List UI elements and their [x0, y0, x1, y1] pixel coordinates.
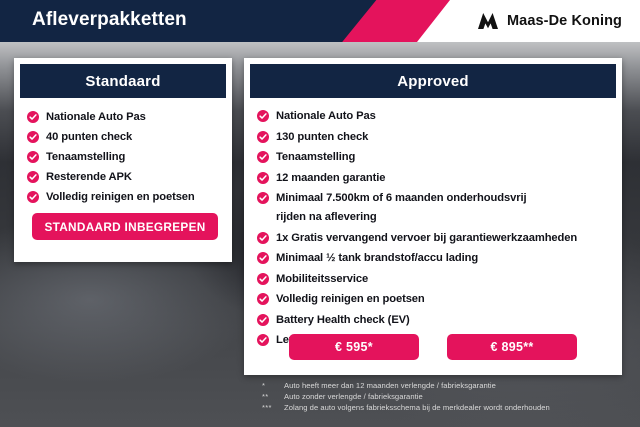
check-circle-icon [257, 110, 269, 122]
footnote-text: Auto heeft meer dan 12 maanden verlengde… [284, 381, 496, 390]
list-item: 130 punten check [257, 130, 612, 144]
list-item: 1x Gratis vervangend vervoer bij garanti… [257, 231, 612, 245]
check-circle-icon [257, 314, 269, 326]
check-circle-icon [27, 111, 39, 123]
check-circle-icon [257, 192, 269, 204]
check-circle-icon [257, 172, 269, 184]
feature-label: 1x Gratis vervangend vervoer bij garanti… [276, 231, 577, 245]
list-item: Battery Health check (EV) [257, 313, 612, 327]
feature-label: Mobiliteitsservice [276, 272, 368, 286]
list-item: Nationale Auto Pas [257, 109, 612, 123]
price-button-row: € 595* € 895** [244, 334, 622, 360]
feature-label: Minimaal ½ tank brandstof/accu lading [276, 251, 478, 265]
feature-label: Volledig reinigen en poetsen [46, 190, 195, 204]
check-circle-icon [27, 151, 39, 163]
list-item: 12 maanden garantie [257, 171, 612, 185]
feature-label: Volledig reinigen en poetsen [276, 292, 425, 306]
feature-label: Tenaamstelling [46, 150, 125, 164]
package-card-standaard: Standaard Nationale Auto Pas 40 punten c… [14, 58, 232, 262]
feature-label: Battery Health check (EV) [276, 313, 410, 327]
footnote-text: Auto zonder verlengde / fabrieksgarantie [284, 392, 423, 401]
brand-name: Maas-De Koning [507, 13, 622, 29]
price-button-595[interactable]: € 595* [289, 334, 419, 360]
check-circle-icon [257, 252, 269, 264]
card-header-approved: Approved [250, 64, 616, 98]
afleverpakketten-promo-graphic: Afleverpakketten Maas-De Koning Standaar… [0, 0, 640, 427]
check-circle-icon [257, 293, 269, 305]
footnote-marker: * [262, 381, 284, 390]
list-item: Minimaal 7.500km of 6 maanden onderhouds… [257, 191, 612, 224]
list-item: Mobiliteitsservice [257, 272, 612, 286]
brand-lockup: Maas-De Koning [477, 0, 622, 42]
feature-label: Nationale Auto Pas [276, 109, 376, 123]
footnotes-block: * Auto heeft meer dan 12 maanden verleng… [262, 381, 632, 414]
footnote-marker: *** [262, 403, 284, 412]
card-title: Standaard [85, 73, 160, 90]
check-circle-icon [27, 191, 39, 203]
feature-label: Nationale Auto Pas [46, 110, 146, 124]
feature-list-standaard: Nationale Auto Pas 40 punten check Tenaa… [14, 98, 232, 204]
feature-list-approved: Nationale Auto Pas 130 punten check Tena… [244, 98, 622, 347]
list-item: Volledig reinigen en poetsen [257, 292, 612, 306]
card-header-standaard: Standaard [20, 64, 226, 98]
footnote-text: Zolang de auto volgens fabrieksschema bi… [284, 403, 550, 412]
page-title: Afleverpakketten [32, 9, 187, 31]
list-item: Tenaamstelling [27, 150, 222, 164]
price-button-895[interactable]: € 895** [447, 334, 577, 360]
card-title: Approved [397, 73, 469, 90]
footnote-row: *** Zolang de auto volgens fabrieksschem… [262, 403, 632, 412]
check-circle-icon [257, 232, 269, 244]
package-card-approved: Approved Nationale Auto Pas 130 punten c… [244, 58, 622, 375]
list-item: Volledig reinigen en poetsen [27, 190, 222, 204]
check-circle-icon [257, 273, 269, 285]
list-item: 40 punten check [27, 130, 222, 144]
feature-label-line2: rijden na aflevering [276, 210, 527, 224]
footnote-row: * Auto heeft meer dan 12 maanden verleng… [262, 381, 632, 390]
list-item: Nationale Auto Pas [27, 110, 222, 124]
standaard-inbegrepen-button[interactable]: STANDAARD INBEGREPEN [32, 213, 218, 240]
feature-label: 12 maanden garantie [276, 171, 385, 185]
check-circle-icon [257, 151, 269, 163]
feature-label: Resterende APK [46, 170, 132, 184]
feature-label: 40 punten check [46, 130, 132, 144]
check-circle-icon [257, 131, 269, 143]
check-circle-icon [27, 131, 39, 143]
footnote-row: ** Auto zonder verlengde / fabrieksgaran… [262, 392, 632, 401]
feature-label: 130 punten check [276, 130, 368, 144]
footnote-marker: ** [262, 392, 284, 401]
feature-label: Tenaamstelling [276, 150, 355, 164]
list-item: Minimaal ½ tank brandstof/accu lading [257, 251, 612, 265]
list-item: Resterende APK [27, 170, 222, 184]
feature-label-multiline: Minimaal 7.500km of 6 maanden onderhouds… [276, 191, 527, 224]
maas-de-koning-m-logo-icon [477, 12, 499, 30]
page-header: Afleverpakketten Maas-De Koning [0, 0, 640, 42]
check-circle-icon [27, 171, 39, 183]
feature-label-line1: Minimaal 7.500km of 6 maanden onderhouds… [276, 192, 527, 204]
list-item: Tenaamstelling [257, 150, 612, 164]
